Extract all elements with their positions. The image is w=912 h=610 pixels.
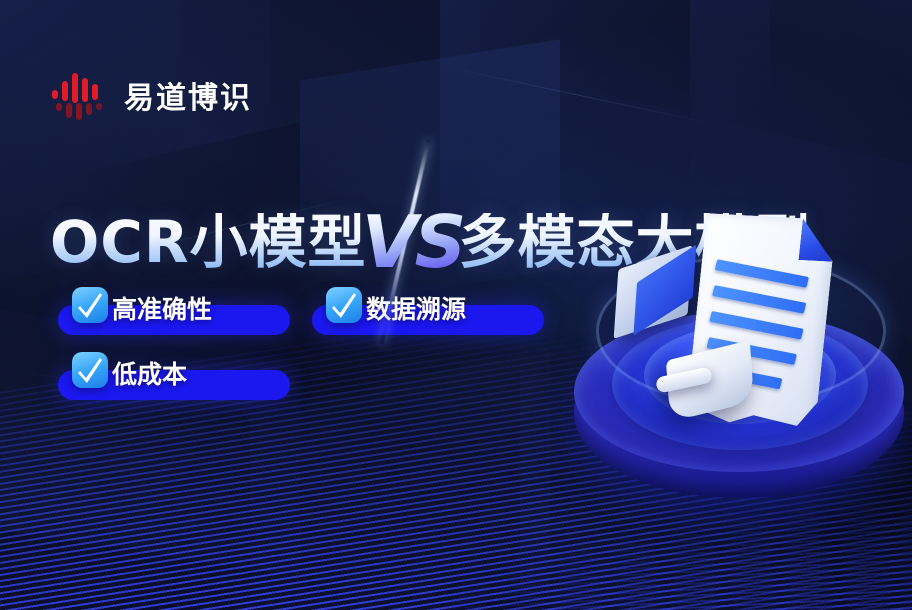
promo-banner: 易道博识 OCR小模型 VS 多模态大模型 高准确性 数据溯源	[0, 0, 912, 610]
check-icon	[72, 352, 108, 388]
check-icon	[72, 287, 108, 323]
versus-label: VS	[362, 206, 464, 278]
versus-badge: VS	[367, 183, 459, 301]
feature-pill-label: 数据溯源	[366, 290, 466, 326]
feature-pill-label: 高准确性	[112, 290, 212, 326]
3d-document-illustration	[560, 200, 912, 540]
waveform-logo-icon	[52, 70, 110, 120]
check-icon	[326, 287, 362, 323]
headline-left-title: OCR小模型	[50, 213, 367, 271]
brand-name: 易道博识	[124, 73, 252, 117]
document-folded-corner	[798, 218, 836, 262]
feature-pill-low-cost[interactable]: 低成本	[58, 370, 290, 400]
feature-pill-label: 低成本	[112, 355, 187, 391]
feature-pill-accuracy[interactable]: 高准确性	[58, 305, 290, 335]
brand-logo: 易道博识	[52, 70, 252, 120]
background-edge-highlight	[433, 64, 727, 127]
feature-pill-traceability[interactable]: 数据溯源	[312, 305, 544, 335]
